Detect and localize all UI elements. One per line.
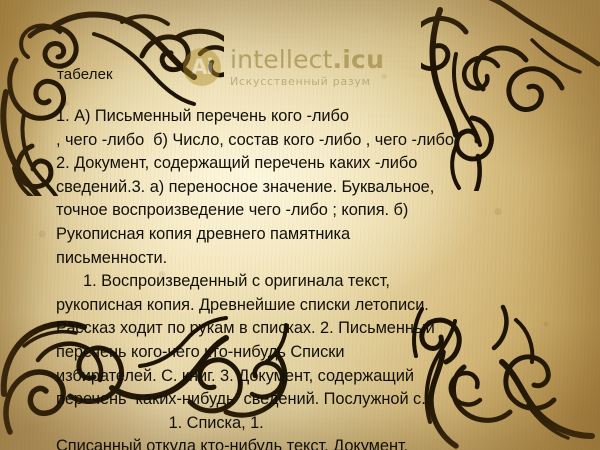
- body-line: 1. Воспроизведенный с оригинала текст,: [56, 270, 556, 294]
- watermark-brand-second: .icu: [333, 45, 384, 74]
- page-title: табелек: [57, 66, 113, 83]
- body-line: рукописная копия. Древнейшие списки лето…: [56, 294, 556, 318]
- body-line: 1. А) Письменный перечень кого -либо: [56, 105, 556, 129]
- body-line: сведений.3. а) переносное значение. Букв…: [56, 176, 556, 200]
- body-line: , чего -либо б) Число, состав кого -либо…: [56, 129, 556, 153]
- body-line: перечень кого-чего кто-нибудь Списки: [56, 341, 556, 365]
- watermark-text-block: intellect.icu Искусственный разум: [230, 47, 384, 87]
- watermark-intellect-icu: Ai intellect.icu Искусственный разум: [183, 47, 384, 87]
- body-line: Списанный откуда кто-нибудь текст. Докум…: [56, 435, 556, 450]
- body-line: Рукописная копия древнего памятника: [56, 223, 556, 247]
- body-line: точное воспроизведение чего -либо ; копи…: [56, 199, 556, 223]
- body-line: 2. Документ, содержащий перечень каких -…: [56, 152, 556, 176]
- watermark-brand: intellect.icu: [230, 47, 384, 72]
- watermark-brand-first: intellect: [230, 45, 333, 74]
- watermark-ai-badge-icon: Ai: [183, 48, 221, 86]
- watermark-badge-text: Ai: [191, 57, 212, 78]
- body-line: 1. Списка, 1.: [56, 412, 556, 436]
- watermark-tagline: Искусственный разум: [230, 76, 384, 87]
- body-line: письменности.: [56, 247, 556, 271]
- body-line: Рассказ ходит по рукам в списках. 2. Пис…: [56, 317, 556, 341]
- body-line: перечень каких-нибудь сведений. Послужно…: [56, 388, 556, 412]
- body-line: избирателей. С. книг. 3. Документ, содер…: [56, 365, 556, 389]
- slide-body-text: 1. А) Письменный перечень кого -либо, че…: [56, 105, 556, 450]
- presentation-slide: Ai intellect.icu Искусственный разум таб…: [0, 0, 600, 450]
